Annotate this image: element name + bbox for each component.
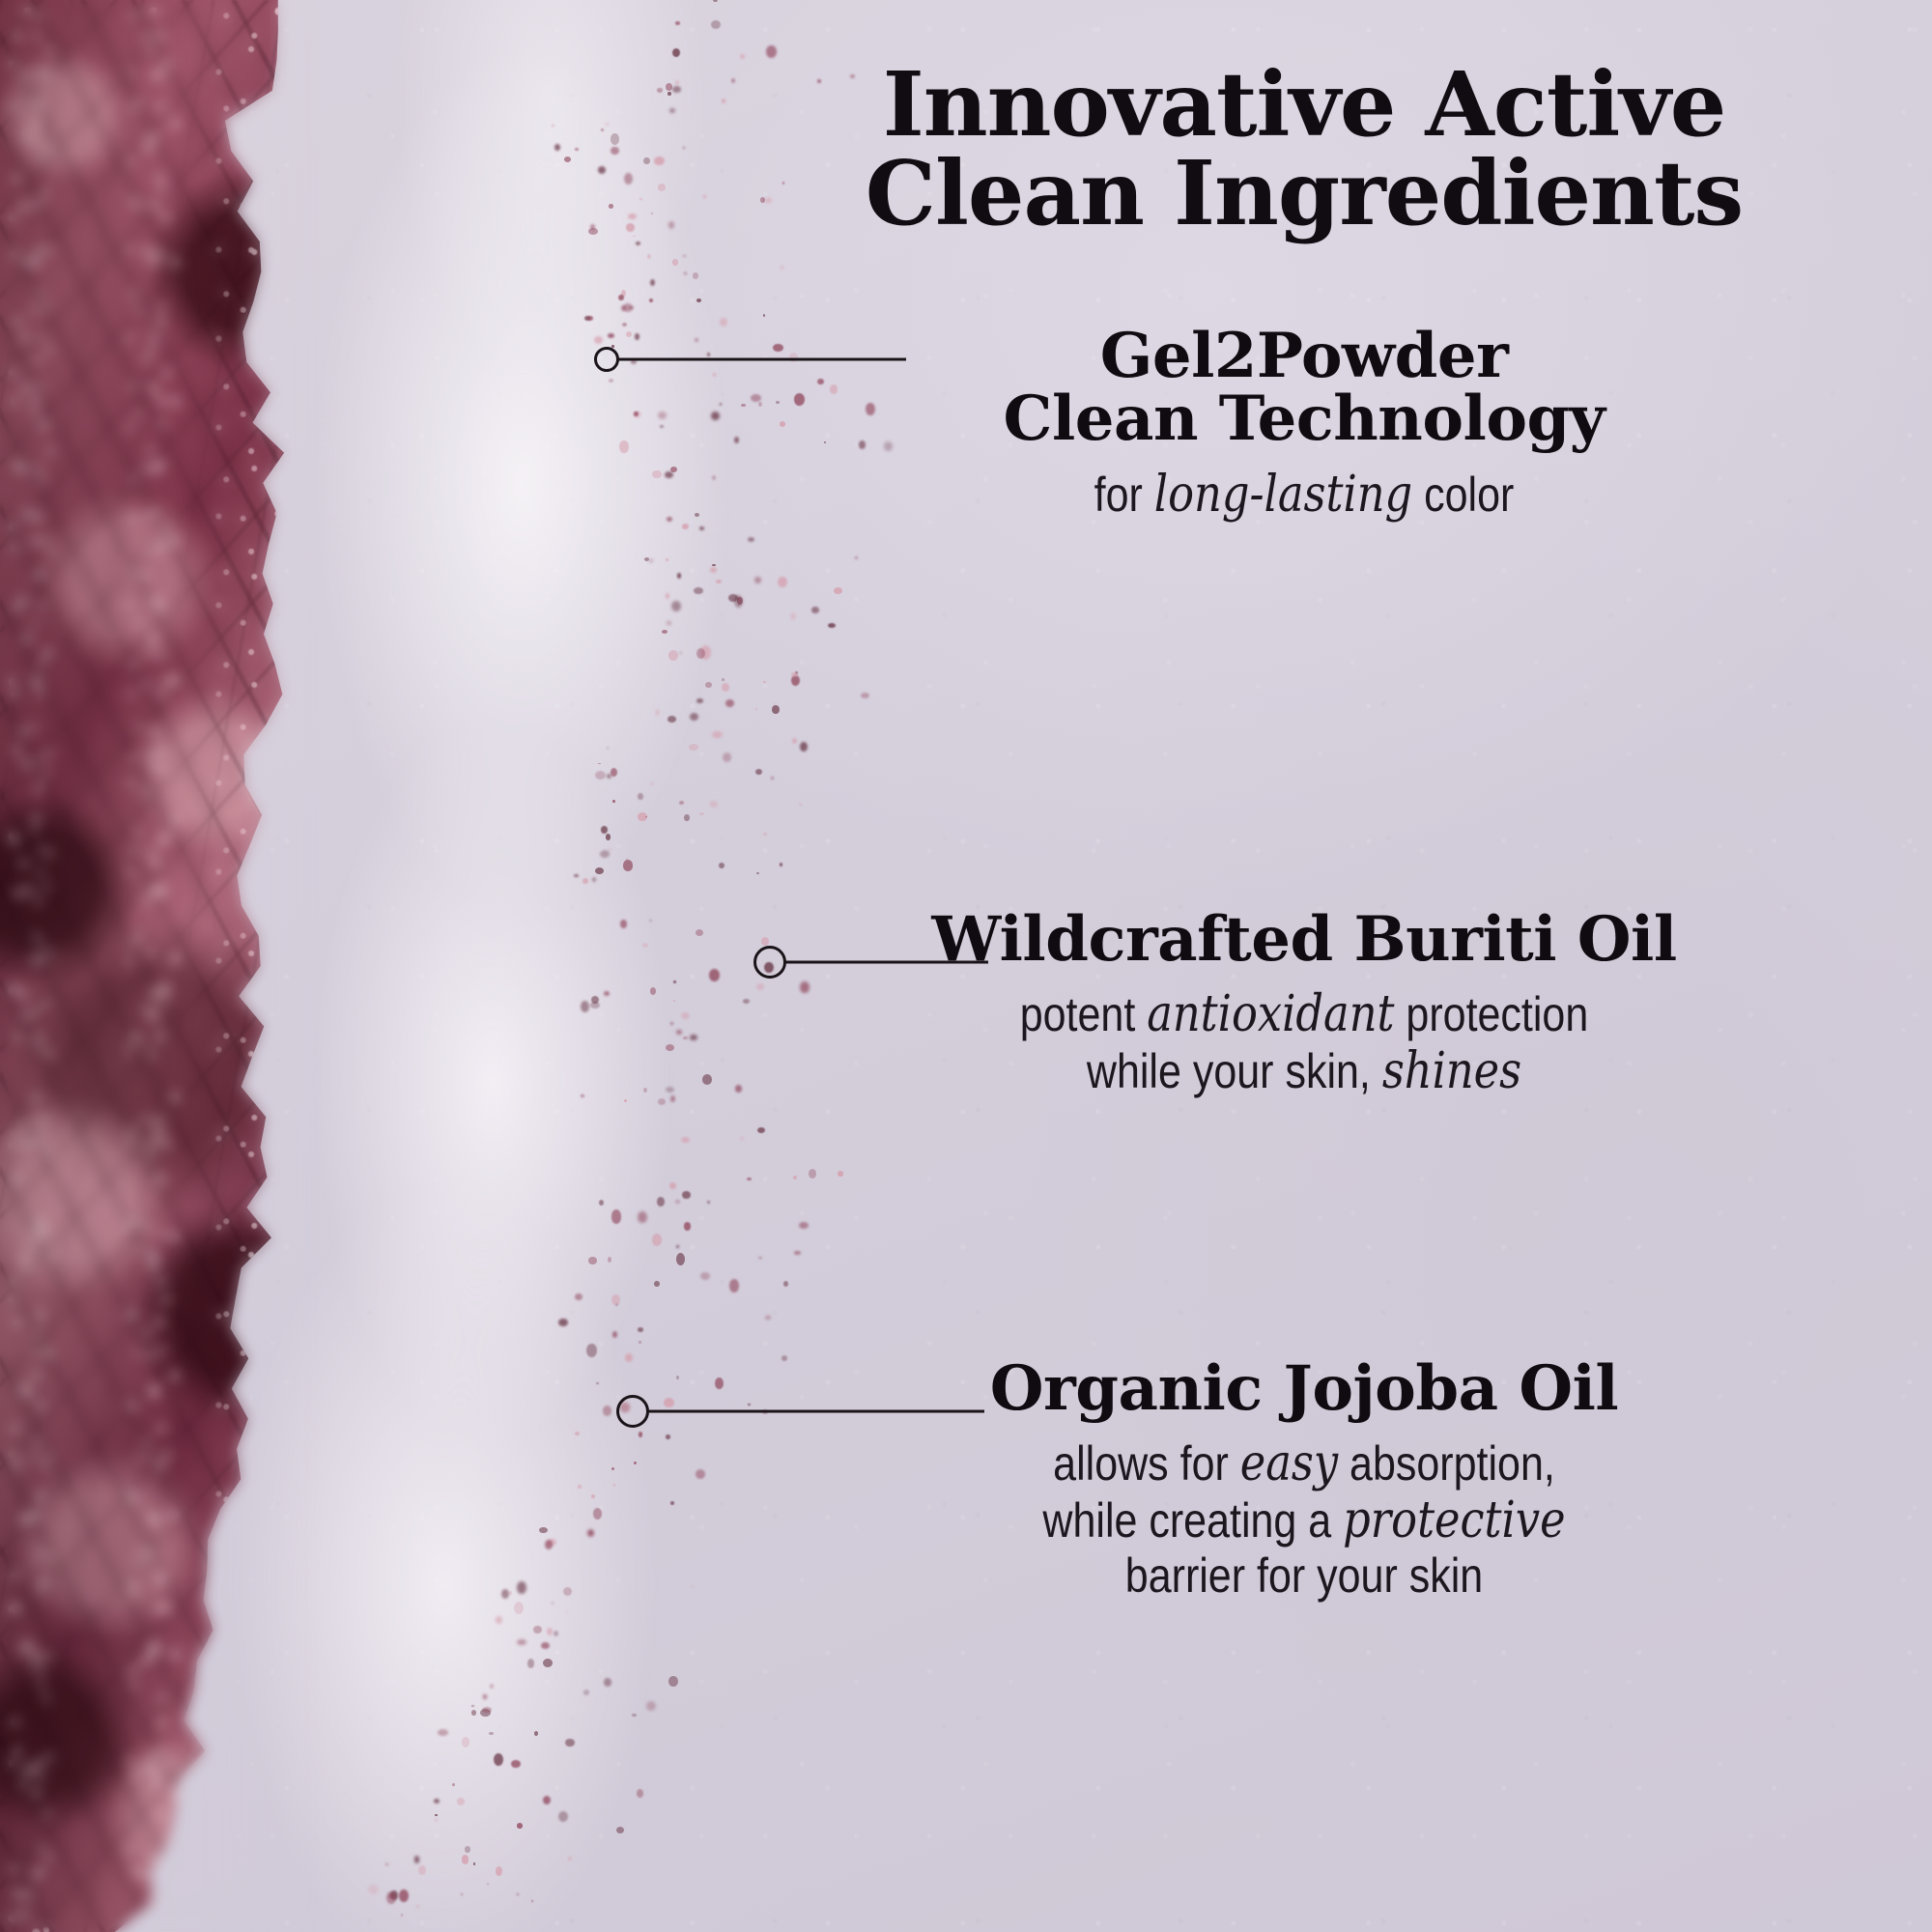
callout-jojoba-oil: Organic Jojoba Oil allows for easy absor… (734, 1357, 1874, 1603)
emphasis-text: easy (1240, 1435, 1338, 1492)
plain-text: for (1094, 468, 1154, 522)
plain-text: potent (1020, 987, 1147, 1041)
plain-text: protection (1394, 987, 1588, 1041)
infographic-canvas: Innovative Active Clean Ingredients Gel2… (0, 0, 1932, 1932)
callout-subtitle-line: while creating a protective (814, 1492, 1795, 1548)
callout-subtitle-line: while your skin, shines (814, 1043, 1795, 1099)
plain-text: while your skin, (1087, 1044, 1382, 1098)
callout-heading-line-1: Wildcrafted Buriti Oil (931, 903, 1676, 976)
callout-subtitle: for long-lasting color (814, 467, 1795, 523)
callout-heading: Gel2Powder Clean Technology (734, 325, 1874, 451)
callout-heading-line-1: Organic Jojoba Oil (990, 1352, 1618, 1425)
callout-subtitle-line: allows for easy absorption, (814, 1435, 1795, 1492)
plain-text: while creating a (1042, 1493, 1343, 1548)
emphasis-text: long-lasting (1154, 466, 1412, 524)
emphasis-text: shines (1382, 1042, 1521, 1100)
plain-text: absorption, (1338, 1436, 1555, 1491)
powder-depth-blur (0, 0, 319, 1932)
callout-subtitle-line: barrier for your skin (814, 1548, 1795, 1603)
callout-subtitle: potent antioxidant protectionwhile your … (814, 986, 1795, 1098)
plain-text: barrier for your skin (1125, 1548, 1483, 1603)
emphasis-text: protective (1343, 1492, 1565, 1549)
page-title: Innovative Active Clean Ingredients (734, 60, 1874, 238)
callout-subtitle-line: for long-lasting color (814, 467, 1795, 523)
callout-heading: Organic Jojoba Oil (734, 1357, 1874, 1420)
callout-gel2powder: Gel2Powder Clean Technology for long-las… (734, 325, 1874, 523)
page-title-line-2: Clean Ingredients (734, 149, 1874, 238)
emphasis-text: antioxidant (1147, 985, 1394, 1043)
callout-heading: Wildcrafted Buriti Oil (734, 908, 1874, 971)
callout-heading-line-1: Gel2Powder (1100, 320, 1509, 392)
callout-buriti-oil: Wildcrafted Buriti Oil potent antioxidan… (734, 908, 1874, 1099)
callout-subtitle-line: potent antioxidant protection (814, 986, 1795, 1042)
leader-dot-icon (616, 1395, 649, 1428)
plain-text: allows for (1053, 1436, 1240, 1491)
callout-heading-line-2: Clean Technology (1004, 383, 1605, 455)
callout-subtitle: allows for easy absorption,while creatin… (814, 1435, 1795, 1602)
plain-text: color (1412, 468, 1514, 522)
